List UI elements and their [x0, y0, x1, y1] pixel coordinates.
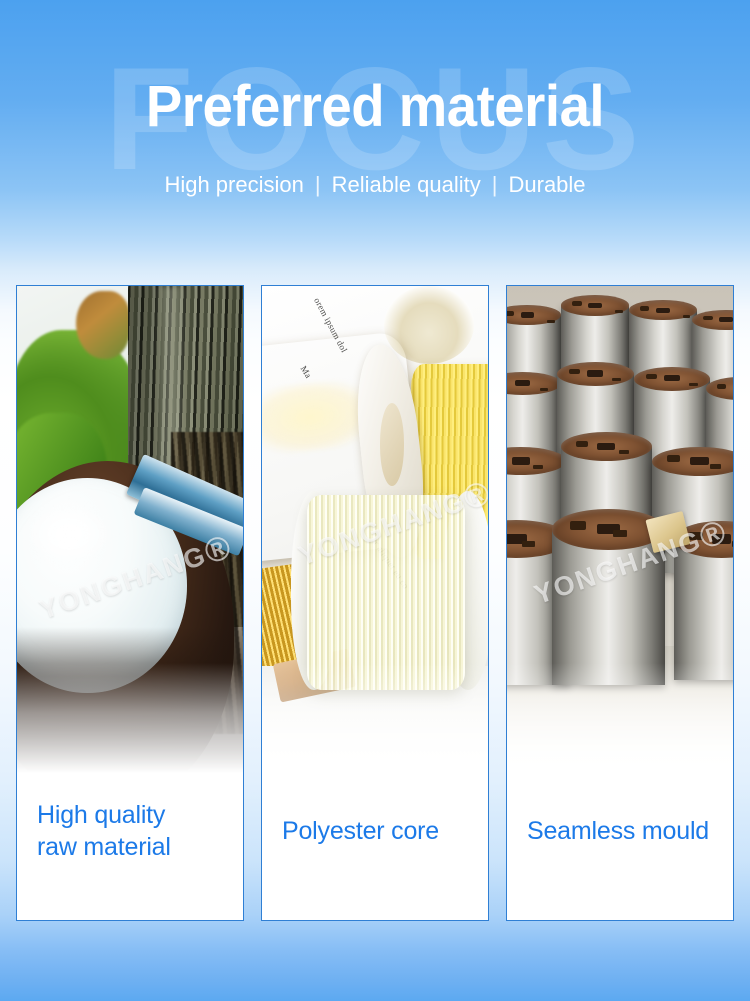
mould-top-face	[634, 367, 711, 391]
spool-core-hub	[380, 403, 405, 486]
mould-top-face	[561, 432, 651, 461]
banner-header: FOCUS Preferred material High precision|…	[0, 0, 750, 260]
caption-line-1: High quality	[37, 799, 243, 831]
promo-banner: FOCUS Preferred material High precision|…	[0, 0, 750, 1001]
card-caption-polyester-core: Polyester core	[262, 773, 488, 847]
feature-card-list: YONGHANG® High quality raw material orem…	[0, 285, 750, 921]
subtitle-item-2: Reliable quality	[332, 172, 481, 197]
feature-card-raw-material[interactable]: YONGHANG® High quality raw material	[16, 285, 244, 921]
mould-top-face	[507, 447, 566, 475]
subtitle-separator-1: |	[315, 172, 321, 198]
scene-bottom-shadow	[17, 627, 243, 773]
card-photo-seamless-mould: YONGHANG®	[507, 286, 733, 773]
mould-top-face	[692, 310, 733, 330]
rubber-tree-scene	[17, 286, 243, 773]
steel-moulds-scene	[507, 286, 733, 773]
card-photo-raw-material: YONGHANG®	[17, 286, 243, 773]
caption-line-2: raw material	[37, 831, 243, 863]
card-caption-raw-material: High quality raw material	[17, 773, 243, 863]
subtitle-item-1: High precision	[164, 172, 303, 197]
mould-top-face	[652, 447, 733, 476]
mould-top-face	[507, 305, 561, 325]
dry-leaf	[76, 291, 130, 359]
caption-line-1: Polyester core	[282, 815, 488, 847]
subtitle: High precision|Reliable quality|Durable	[0, 172, 750, 198]
wire-spools-scene: orem ipsum dol Ma scing elit. r aliquet …	[262, 286, 488, 773]
subtitle-separator-2: |	[492, 172, 498, 198]
card-photo-polyester-core: orem ipsum dol Ma scing elit. r aliquet …	[262, 286, 488, 773]
wire-spool-cream	[307, 495, 465, 690]
subtitle-item-3: Durable	[509, 172, 586, 197]
caption-line-1: Seamless mould	[527, 815, 733, 847]
mould-top-face	[561, 295, 629, 315]
card-caption-seamless-mould: Seamless mould	[507, 773, 733, 847]
mould-top-face	[557, 362, 634, 386]
feature-card-seamless-mould[interactable]: YONGHANG® Seamless mould	[506, 285, 734, 921]
feature-card-polyester-core[interactable]: orem ipsum dol Ma scing elit. r aliquet …	[261, 285, 489, 921]
page-title: Preferred material	[23, 78, 728, 136]
mould-top-face	[629, 300, 697, 320]
mould-cylinder	[674, 539, 733, 680]
mould-cylinder-foreground	[552, 530, 665, 686]
